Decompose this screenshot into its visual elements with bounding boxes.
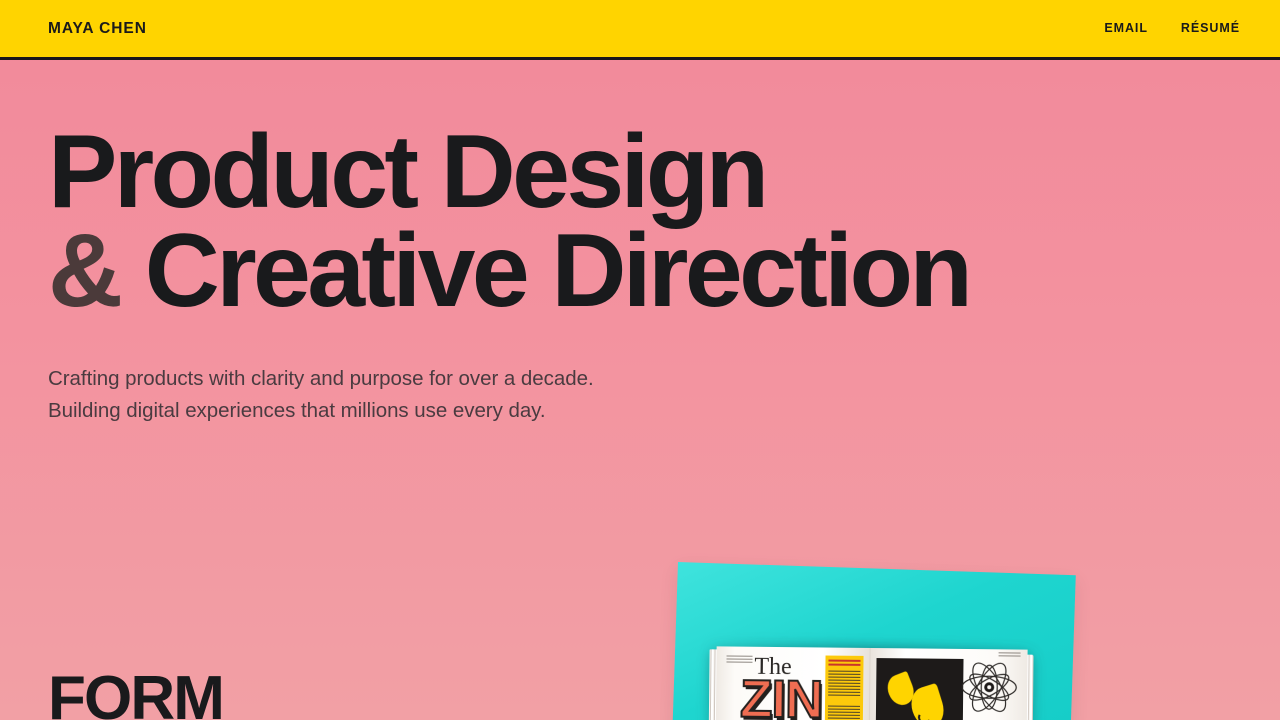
headline-line-2: & Creative Direction — [48, 222, 1232, 321]
section-heading-form: FORM — [48, 668, 223, 720]
hero-section: Product Design & Creative Direction Craf… — [0, 60, 1280, 427]
headline-line-2-text: Creative Direction — [145, 213, 970, 329]
yellow-column-body-1 — [828, 671, 860, 697]
magazine-black-panel — [875, 658, 963, 720]
yellow-column-body-2 — [828, 706, 860, 720]
nav-link-resume[interactable]: RÉSUMÉ — [1181, 22, 1240, 35]
magazine-page-right — [869, 648, 1027, 720]
subtitle-line-2: Building digital experiences that millio… — [48, 395, 1232, 427]
page-title: Product Design & Creative Direction — [48, 123, 1232, 321]
atom-diagram-icon — [959, 659, 1020, 716]
magazine-yellow-column — [824, 656, 863, 720]
magazine-title-word: ZIN — [740, 673, 823, 720]
magazine-kicker-text — [726, 655, 752, 662]
top-navbar: MAYA CHEN EMAIL RÉSUMÉ — [0, 0, 1280, 60]
brand-logo[interactable]: MAYA CHEN — [48, 21, 147, 37]
magazine-folio-text — [999, 652, 1021, 657]
primary-nav: EMAIL RÉSUMÉ — [1104, 22, 1240, 35]
hero-photo: The ZIN — [660, 548, 1090, 720]
yellow-column-headline — [828, 660, 860, 668]
headline-ampersand: & — [48, 213, 119, 329]
magazine-page-left: The ZIN — [715, 646, 870, 720]
nav-link-email[interactable]: EMAIL — [1104, 22, 1148, 35]
subtitle-line-1: Crafting products with clarity and purpo… — [48, 363, 1232, 395]
headline-line-1: Product Design — [48, 123, 1232, 222]
hero-subtitle: Crafting products with clarity and purpo… — [48, 363, 1232, 428]
open-magazine: The ZIN — [715, 646, 1027, 720]
